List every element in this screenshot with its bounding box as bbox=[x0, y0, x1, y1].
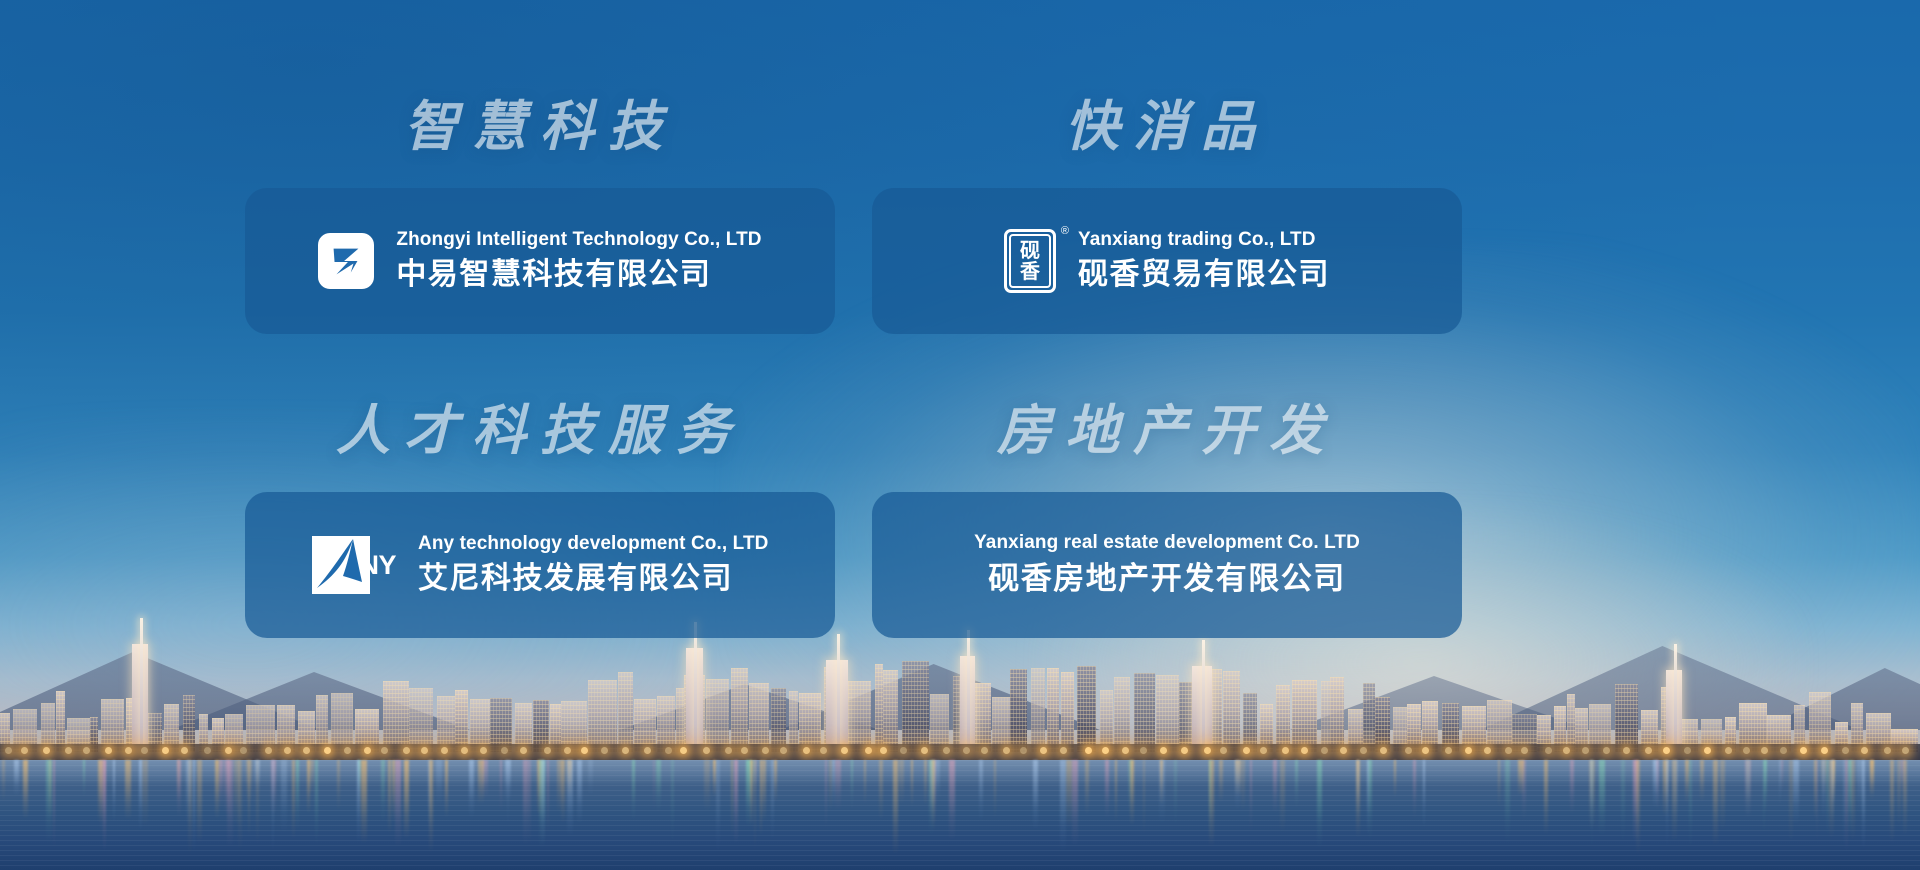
company-card[interactable]: Zhongyi Intelligent Technology Co., LTD … bbox=[245, 188, 835, 334]
company-card[interactable]: NY Any technology development Co., LTD 艾… bbox=[245, 492, 835, 638]
company-names: Yanxiang real estate development Co. LTD… bbox=[974, 531, 1360, 599]
seal-glyph-top: 砚 bbox=[1020, 241, 1040, 261]
sector-block-smart-technology: 智慧科技 Zhongyi Intelligent Technology Co.,… bbox=[245, 100, 835, 334]
company-names: Zhongyi Intelligent Technology Co., LTD … bbox=[396, 228, 761, 295]
company-name-cn: 艾尼科技发展有限公司 bbox=[418, 559, 768, 598]
sector-heading: 人才科技服务 bbox=[245, 404, 835, 458]
company-name-cn: 中易智慧科技有限公司 bbox=[396, 255, 761, 294]
any-mountain-logo: NY bbox=[312, 536, 397, 594]
sector-heading: 快消品 bbox=[872, 100, 1462, 154]
yanxiang-seal-logo: 砚 香 ® bbox=[1004, 229, 1056, 293]
sector-heading: 房地产开发 bbox=[872, 404, 1462, 458]
company-name-en: Yanxiang real estate development Co. LTD bbox=[974, 531, 1360, 555]
company-name-cn: 砚香房地产开发有限公司 bbox=[974, 559, 1360, 599]
sector-block-fmcg: 快消品 砚 香 ® Yanxiang trading Co., LTD 砚香贸易… bbox=[872, 100, 1462, 334]
company-names: Any technology development Co., LTD 艾尼科技… bbox=[418, 532, 768, 599]
company-card[interactable]: Yanxiang real estate development Co. LTD… bbox=[872, 492, 1462, 638]
sector-heading: 智慧科技 bbox=[245, 100, 835, 154]
company-names: Yanxiang trading Co., LTD 砚香贸易有限公司 bbox=[1078, 228, 1330, 295]
registered-trademark-icon: ® bbox=[1061, 225, 1069, 237]
company-name-en: Yanxiang trading Co., LTD bbox=[1078, 228, 1330, 252]
company-name-en: Any technology development Co., LTD bbox=[418, 532, 768, 556]
any-logo-text: NY bbox=[360, 550, 397, 581]
sector-block-real-estate: 房地产开发 Yanxiang real estate development C… bbox=[872, 404, 1462, 638]
seal-glyph-bottom: 香 bbox=[1020, 262, 1040, 282]
company-name-cn: 砚香贸易有限公司 bbox=[1078, 255, 1330, 294]
zhongyi-z-mark-logo bbox=[318, 233, 374, 289]
company-name-en: Zhongyi Intelligent Technology Co., LTD bbox=[396, 228, 761, 252]
company-card[interactable]: 砚 香 ® Yanxiang trading Co., LTD 砚香贸易有限公司 bbox=[872, 188, 1462, 334]
sector-block-talent-tech-services: 人才科技服务 NY Any technology development Co.… bbox=[245, 404, 835, 638]
